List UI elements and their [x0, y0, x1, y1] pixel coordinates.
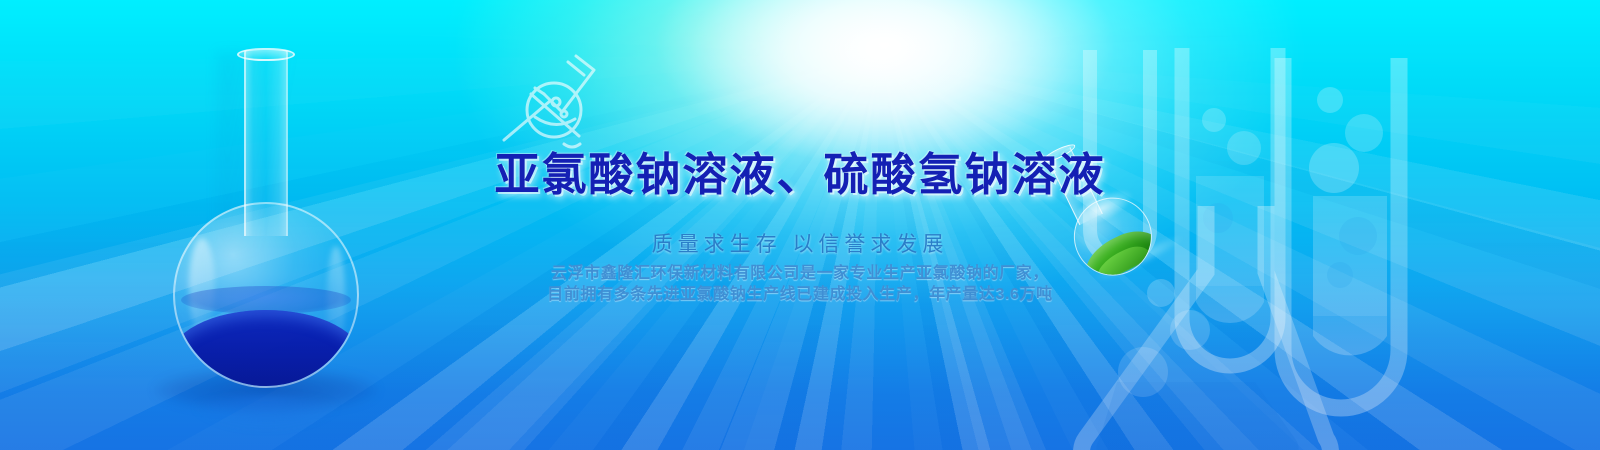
promo-banner: 亚氯酸钠溶液、硫酸氢钠溶液 质量求生存 以信誉求发展 云浮市鑫隆汇环保新材料有限…: [0, 0, 1600, 450]
banner-description: 云浮市鑫隆汇环保新材料有限公司是一家专业生产亚氯酸钠的厂家， 目前拥有多条先进亚…: [0, 263, 1600, 305]
banner-headline: 亚氯酸钠溶液、硫酸氢钠溶液: [0, 150, 1600, 200]
banner-text-block: 亚氯酸钠溶液、硫酸氢钠溶液 质量求生存 以信誉求发展 云浮市鑫隆汇环保新材料有限…: [0, 0, 1600, 450]
description-line-1: 云浮市鑫隆汇环保新材料有限公司是一家专业生产亚氯酸钠的厂家，: [0, 263, 1600, 284]
description-line-2: 目前拥有多条先进亚氯酸钠生产线已建成投入生产，年产量达3.6万吨: [0, 284, 1600, 305]
banner-subtitle: 质量求生存 以信誉求发展: [0, 228, 1600, 258]
